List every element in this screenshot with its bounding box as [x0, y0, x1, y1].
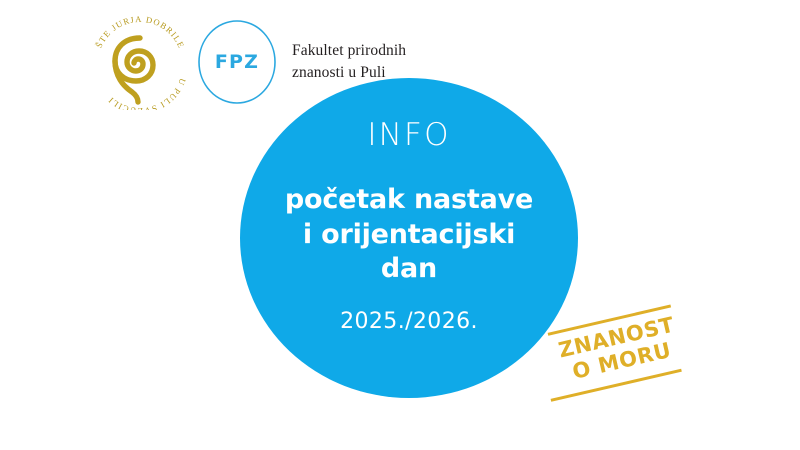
svg-text:U PULI SVEUČILI: U PULI SVEUČILI	[106, 77, 188, 110]
spiral-logo-icon: ŠTE JURJA DOBRILE U PULI SVEUČILI	[88, 14, 192, 110]
znanost-o-moru-stamp: ZNANOST O MORU	[534, 300, 705, 402]
svg-text:ŠTE JURJA DOBRILE: ŠTE JURJA DOBRILE	[94, 14, 187, 50]
fpz-badge: FPZ	[196, 18, 278, 106]
header-logo-lockup: ŠTE JURJA DOBRILE U PULI SVEUČILI FPZ Fa…	[88, 14, 406, 110]
faculty-name: Fakultet prirodnih znanosti u Puli	[292, 40, 406, 84]
headline-text: početak nastave i orijentacijski dan	[285, 183, 533, 287]
info-label: INFO	[367, 120, 450, 151]
university-spiral-logo: ŠTE JURJA DOBRILE U PULI SVEUČILI	[88, 14, 192, 110]
info-circle: INFO početak nastave i orijentacijski da…	[240, 78, 578, 398]
academic-year-text: 2025./2026.	[340, 311, 478, 333]
poster-canvas: ŠTE JURJA DOBRILE U PULI SVEUČILI FPZ Fa…	[0, 0, 800, 450]
fpz-label: FPZ	[196, 51, 278, 73]
